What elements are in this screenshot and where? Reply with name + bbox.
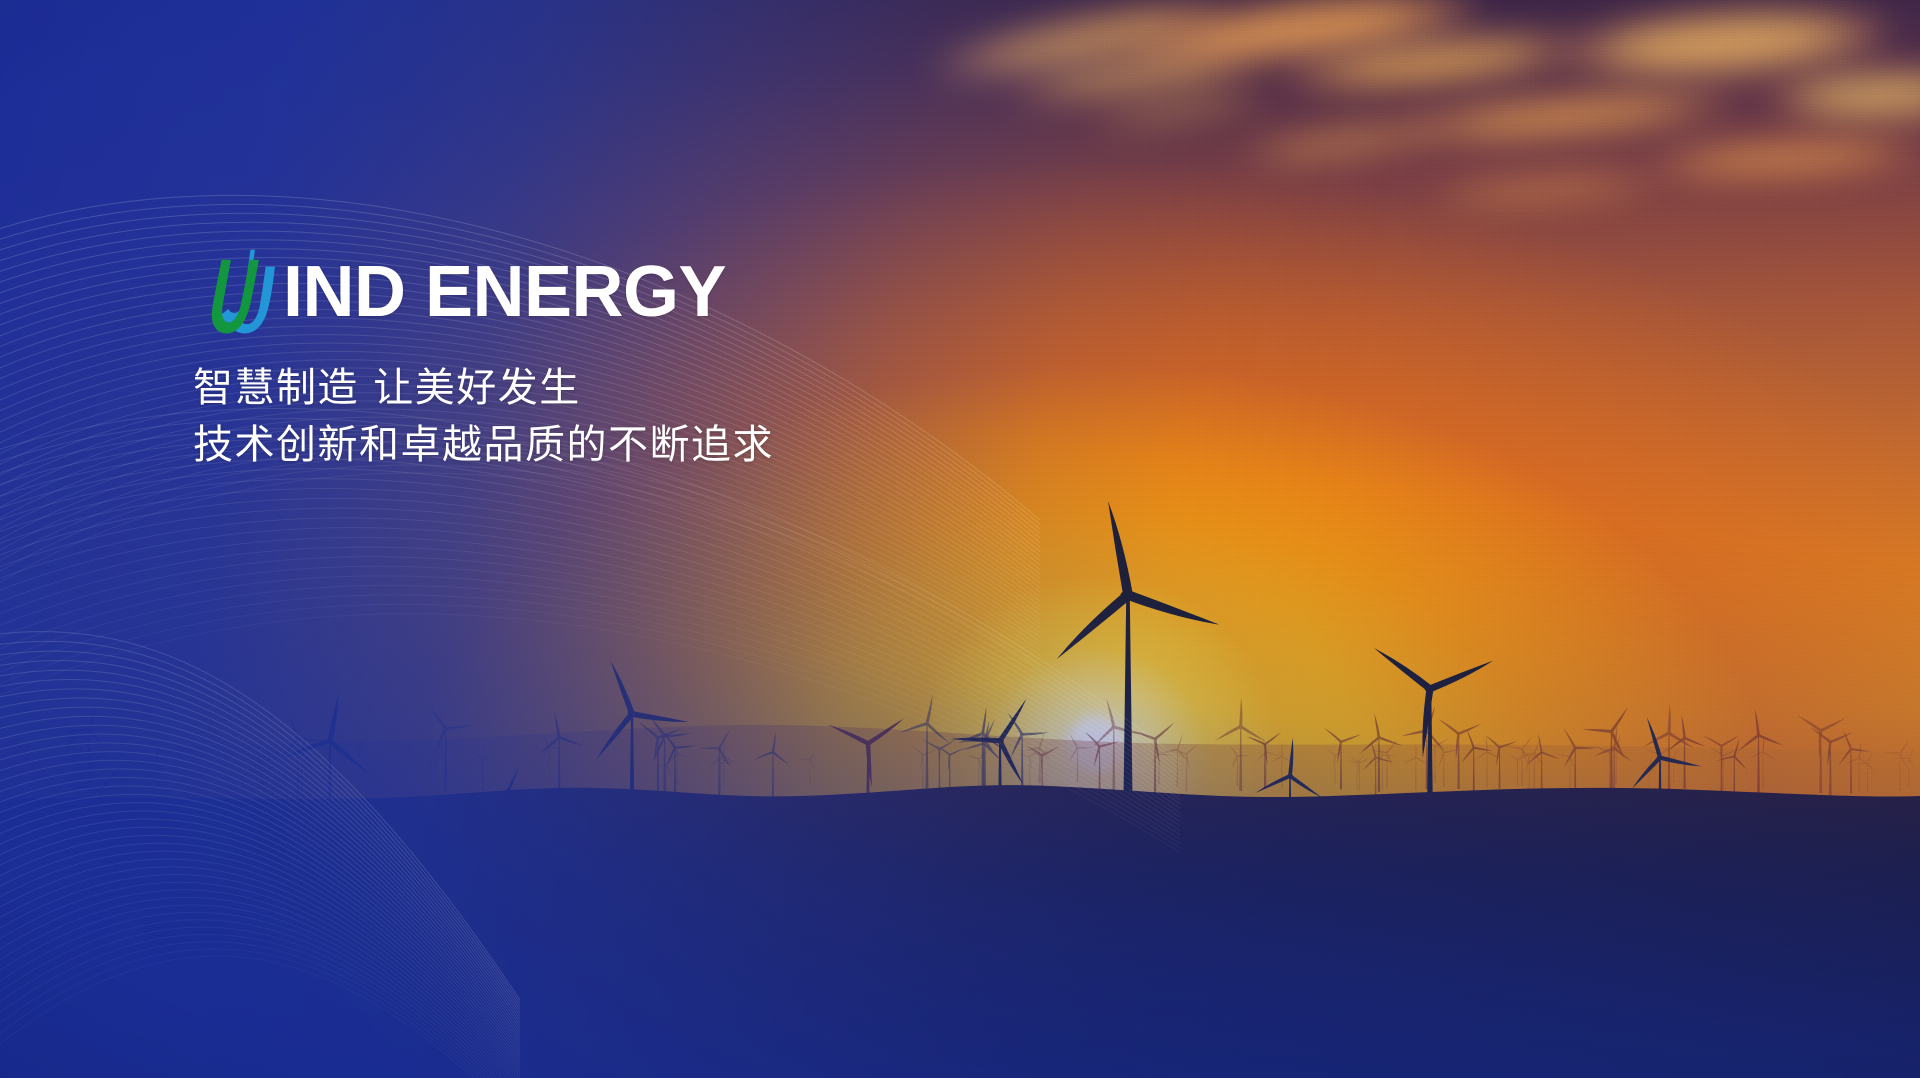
brand-lockup[interactable]: IND ENERGY: [193, 246, 1113, 338]
arc-line: [0, 794, 520, 1056]
arc-line: [0, 595, 1180, 844]
arc-line: [0, 912, 520, 1078]
arc-line: [0, 835, 520, 1072]
arc-line: [0, 518, 1180, 808]
tagline-line-1: 智慧制造 让美好发生: [193, 360, 1113, 417]
arc-line: [0, 905, 520, 1078]
wind-energy-w-logo-icon: [193, 248, 279, 336]
hero-content: IND ENERGY 智慧制造 让美好发生 技术创新和卓越品质的不断追求: [193, 246, 1113, 474]
arc-line: [0, 459, 1180, 782]
tagline-line-2: 技术创新和卓越品质的不断追求: [193, 417, 1113, 474]
decorative-arc-lines: [0, 0, 1920, 1078]
tagline-block: 智慧制造 让美好发生 技术创新和卓越品质的不断追求: [193, 360, 1113, 474]
arc-line: [0, 429, 1180, 769]
hero-banner: IND ENERGY 智慧制造 让美好发生 技术创新和卓越品质的不断追求: [0, 0, 1920, 1078]
arc-line: [0, 557, 1180, 826]
arc-line: [0, 819, 520, 1066]
arc-line: [0, 585, 1180, 839]
wordmark-text: IND ENERGY: [283, 256, 726, 328]
arc-line: [0, 449, 1040, 655]
arc-line: [0, 927, 520, 1078]
